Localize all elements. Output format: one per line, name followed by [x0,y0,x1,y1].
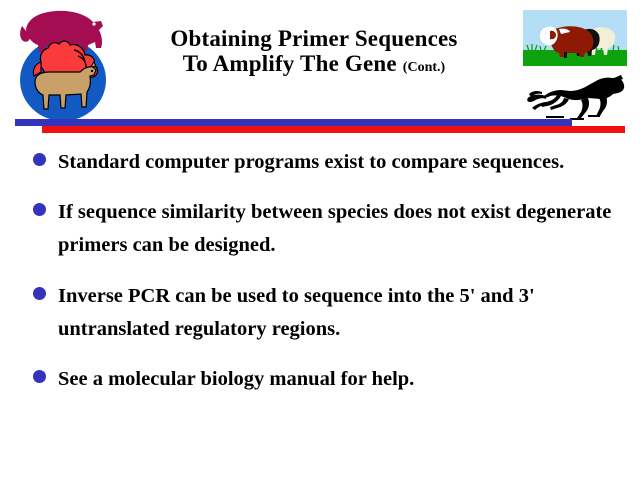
list-item: Standard computer programs exist to comp… [30,146,630,179]
list-item: Inverse PCR can be used to sequence into… [30,280,630,346]
title-continuation-label: (Cont.) [403,60,445,75]
bullet-text: Inverse PCR can be used to sequence into… [58,280,630,346]
bullet-dot-icon [33,153,46,166]
title-line-1: Obtaining Primer Sequences [128,27,500,52]
list-item: If sequence similarity between species d… [30,196,630,262]
divider-bar-blue [15,119,572,126]
title-line-2: To Amplify The Gene (Cont.) [128,52,500,77]
bullet-dot-icon [33,370,46,383]
bullet-text: Standard computer programs exist to comp… [58,146,630,179]
bullet-list: Standard computer programs exist to comp… [30,146,630,413]
livestock-logo [8,2,118,124]
slide-title: Obtaining Primer Sequences To Amplify Th… [128,27,500,77]
list-item: See a molecular biology manual for help. [30,363,630,396]
cattle-pasture-photo [523,10,627,66]
bullet-text: See a molecular biology manual for help. [58,363,630,396]
title-line-2-text: To Amplify The Gene [183,51,397,76]
divider-bar-red [42,126,625,133]
galloping-horse-silhouette [518,72,630,122]
bullet-dot-icon [33,287,46,300]
bullet-dot-icon [33,203,46,216]
slide-header: Obtaining Primer Sequences To Amplify Th… [0,0,640,132]
bullet-text: If sequence similarity between species d… [58,196,630,262]
